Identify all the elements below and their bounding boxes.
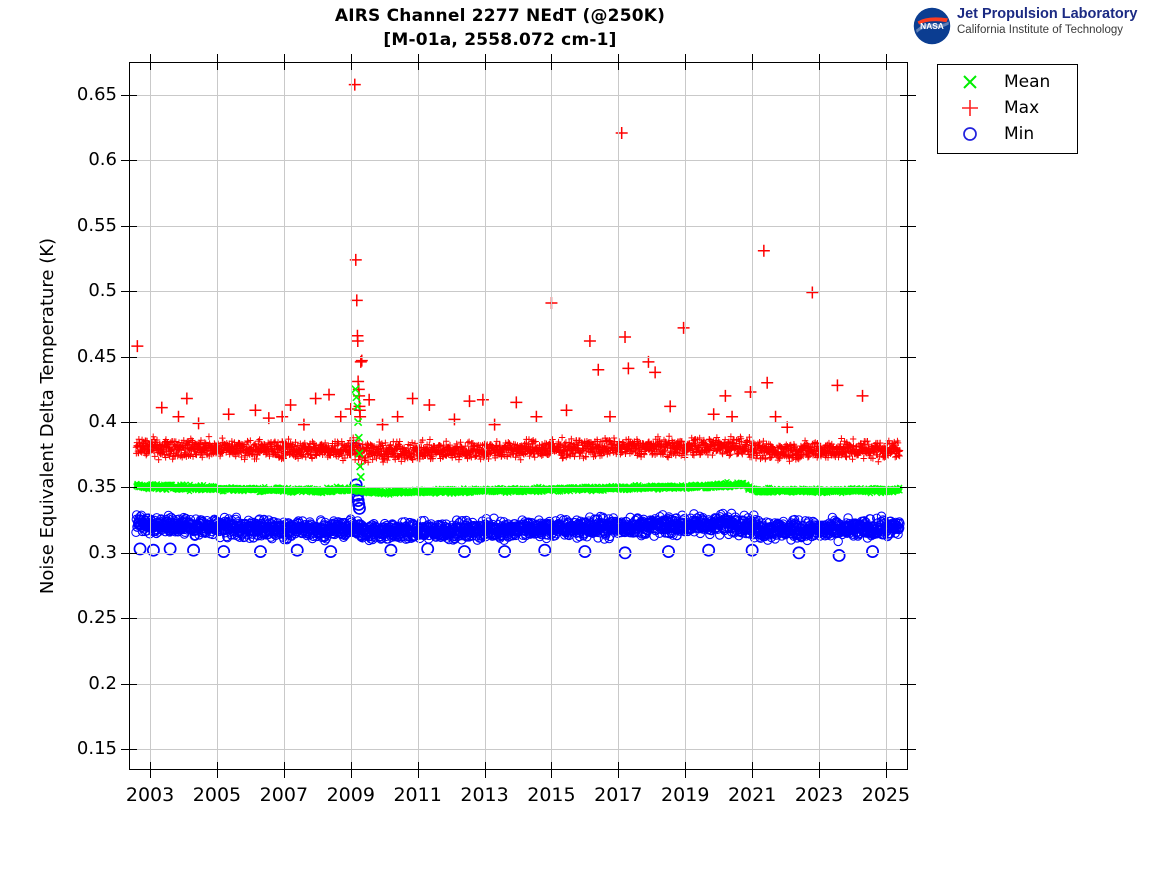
y-axis-tick-label: 0.6 <box>0 149 117 170</box>
x-axis-tick-top <box>150 63 151 70</box>
legend-label-mean: Mean <box>1004 69 1050 95</box>
x-axis-tick-label: 2009 <box>327 784 375 806</box>
y-axis-tick-right <box>900 684 907 685</box>
x-axis-tick-label: 2019 <box>661 784 709 806</box>
mean-marker-icon <box>956 69 984 95</box>
gridline-horizontal <box>130 487 907 488</box>
x-axis-tick <box>886 770 887 778</box>
y-axis-tick-right <box>908 618 916 619</box>
gridline-vertical <box>685 63 686 769</box>
gridline-vertical <box>284 63 285 769</box>
x-axis-tick <box>819 762 820 769</box>
x-axis-tick-top <box>485 54 486 62</box>
x-axis-tick <box>217 762 218 769</box>
y-axis-tick-right <box>908 553 916 554</box>
x-axis-tick <box>685 770 686 778</box>
y-axis-tick-right <box>900 160 907 161</box>
gridline-vertical <box>351 63 352 769</box>
gridline-vertical <box>551 63 552 769</box>
gridline-vertical <box>418 63 419 769</box>
x-axis-tick-top <box>551 63 552 70</box>
x-axis-tick-top <box>284 63 285 70</box>
logo-text: Jet Propulsion Laboratory California Ins… <box>957 6 1137 37</box>
y-axis-tick-label: 0.2 <box>0 673 117 694</box>
x-axis-tick <box>217 770 218 778</box>
y-axis-tick-right <box>900 422 907 423</box>
gridline-horizontal <box>130 422 907 423</box>
jpl-institution: California Institute of Technology <box>957 23 1137 37</box>
y-axis-tick <box>121 618 129 619</box>
x-axis-tick-top <box>685 63 686 70</box>
y-axis-tick <box>130 95 137 96</box>
gridline-horizontal <box>130 618 907 619</box>
x-axis-tick-top <box>618 63 619 70</box>
x-axis-tick-top <box>284 54 285 62</box>
y-axis-tick <box>121 749 129 750</box>
y-axis-tick-right <box>900 553 907 554</box>
gridline-horizontal <box>130 553 907 554</box>
x-axis-tick-top <box>685 54 686 62</box>
x-axis-tick <box>752 770 753 778</box>
legend-label-max: Max <box>1004 95 1039 121</box>
y-axis-tick-right <box>908 357 916 358</box>
nasa-seal-icon: NASA <box>913 7 951 45</box>
y-axis-tick-right <box>900 291 907 292</box>
gridline-horizontal <box>130 291 907 292</box>
svg-text:NASA: NASA <box>920 21 944 31</box>
y-axis-tick <box>121 357 129 358</box>
x-axis-tick <box>351 770 352 778</box>
y-axis-tick <box>130 226 137 227</box>
gridline-horizontal <box>130 160 907 161</box>
x-axis-tick-top <box>150 54 151 62</box>
x-axis-tick-top <box>217 63 218 70</box>
x-axis-tick-top <box>351 63 352 70</box>
y-axis-tick <box>130 291 137 292</box>
x-axis-tick <box>150 762 151 769</box>
y-axis-tick <box>121 160 129 161</box>
nasa-jpl-logo: NASA Jet Propulsion Laboratory Californi… <box>913 5 1163 47</box>
x-axis-tick <box>886 762 887 769</box>
y-axis-tick <box>130 553 137 554</box>
y-axis-tick-right <box>908 95 916 96</box>
title-line-2: [M-01a, 2558.072 cm-1] <box>170 28 830 52</box>
x-axis-tick <box>618 770 619 778</box>
gridline-horizontal <box>130 749 907 750</box>
x-axis-tick-top <box>618 54 619 62</box>
y-axis-tick <box>130 357 137 358</box>
y-axis-tick-label: 0.65 <box>0 84 117 105</box>
x-axis-tick-label: 2003 <box>126 784 174 806</box>
legend-item-min[interactable]: Min <box>938 121 1077 147</box>
y-axis-tick-label: 0.55 <box>0 215 117 236</box>
x-axis-tick-top <box>351 54 352 62</box>
gridline-horizontal <box>130 357 907 358</box>
legend-label-min: Min <box>1004 121 1034 147</box>
y-axis-tick-right <box>900 749 907 750</box>
data-marks <box>130 63 906 768</box>
y-axis-tick-right <box>900 618 907 619</box>
y-axis-tick <box>121 553 129 554</box>
x-axis-tick-label: 2021 <box>728 784 776 806</box>
gridline-vertical <box>819 63 820 769</box>
title-line-1: AIRS Channel 2277 NEdT (@250K) <box>170 4 830 28</box>
x-axis-tick-top <box>752 54 753 62</box>
jpl-name: Jet Propulsion Laboratory <box>957 6 1137 23</box>
x-axis-tick <box>150 770 151 778</box>
legend-item-mean[interactable]: Mean <box>938 69 1077 95</box>
x-axis-tick <box>618 762 619 769</box>
plot-area <box>129 62 908 770</box>
y-axis-tick <box>121 684 129 685</box>
x-axis-tick-top <box>886 54 887 62</box>
y-axis-tick-label: 0.15 <box>0 738 117 759</box>
y-axis-tick <box>130 684 137 685</box>
x-axis-tick-top <box>551 54 552 62</box>
x-axis-tick <box>418 770 419 778</box>
gridline-vertical <box>217 63 218 769</box>
x-axis-tick <box>351 762 352 769</box>
y-axis-tick-right <box>900 226 907 227</box>
x-axis-tick-label: 2007 <box>260 784 308 806</box>
legend-item-max[interactable]: Max <box>938 95 1077 121</box>
y-axis-tick <box>130 749 137 750</box>
x-axis-tick-label: 2005 <box>193 784 241 806</box>
x-axis-tick <box>418 762 419 769</box>
x-axis-tick-label: 2011 <box>393 784 441 806</box>
x-axis-tick-top <box>886 63 887 70</box>
gridline-vertical <box>752 63 753 769</box>
y-axis-tick-right <box>908 226 916 227</box>
gridline-vertical <box>485 63 486 769</box>
x-axis-tick <box>485 762 486 769</box>
x-axis-tick-top <box>217 54 218 62</box>
gridline-vertical <box>150 63 151 769</box>
y-axis-tick <box>130 422 137 423</box>
y-axis-tick <box>130 487 137 488</box>
x-axis-tick <box>284 762 285 769</box>
x-axis-tick-label: 2017 <box>594 784 642 806</box>
y-axis-tick-right <box>900 357 907 358</box>
y-axis-tick-label: 0.45 <box>0 346 117 367</box>
gridline-vertical <box>886 63 887 769</box>
legend: Mean Max Min <box>937 64 1078 154</box>
y-axis-tick <box>121 95 129 96</box>
y-axis-tick-right <box>908 422 916 423</box>
x-axis-tick-top <box>819 54 820 62</box>
chart-page: AIRS Channel 2277 NEdT (@250K) [M-01a, 2… <box>0 0 1167 875</box>
plot-canvas <box>130 63 907 769</box>
y-axis-tick-right <box>900 95 907 96</box>
y-axis-tick-label: 0.4 <box>0 411 117 432</box>
y-axis-tick <box>130 618 137 619</box>
y-axis-tick <box>121 291 129 292</box>
x-axis-tick-top <box>819 63 820 70</box>
y-axis-tick-label: 0.3 <box>0 542 117 563</box>
gridline-horizontal <box>130 95 907 96</box>
gridline-horizontal <box>130 226 907 227</box>
x-axis-tick-label: 2025 <box>862 784 910 806</box>
x-axis-tick-top <box>418 54 419 62</box>
y-axis-tick-right <box>908 160 916 161</box>
x-axis-tick <box>819 770 820 778</box>
y-axis-tick <box>121 422 129 423</box>
y-axis-tick <box>130 160 137 161</box>
x-axis-tick <box>284 770 285 778</box>
y-axis-tick-label: 0.35 <box>0 476 117 497</box>
y-axis-tick-right <box>900 487 907 488</box>
min-marker-icon <box>956 121 984 147</box>
y-axis-tick <box>121 487 129 488</box>
x-axis-tick-top <box>752 63 753 70</box>
page-title: AIRS Channel 2277 NEdT (@250K) [M-01a, 2… <box>170 4 830 52</box>
x-axis-tick-label: 2023 <box>795 784 843 806</box>
x-axis-tick <box>485 770 486 778</box>
max-marker-icon <box>956 95 984 121</box>
y-axis-tick-right <box>908 487 916 488</box>
x-axis-tick <box>551 770 552 778</box>
x-axis-tick <box>752 762 753 769</box>
x-axis-tick-top <box>485 63 486 70</box>
x-axis-tick-label: 2015 <box>527 784 575 806</box>
x-axis-tick-label: 2013 <box>460 784 508 806</box>
y-axis-tick <box>121 226 129 227</box>
x-axis-tick <box>551 762 552 769</box>
gridline-vertical <box>618 63 619 769</box>
y-axis-tick-right <box>908 291 916 292</box>
x-axis-tick-top <box>418 63 419 70</box>
y-axis-tick-right <box>908 749 916 750</box>
x-axis-tick <box>685 762 686 769</box>
gridline-horizontal <box>130 684 907 685</box>
y-axis-tick-label: 0.25 <box>0 607 117 628</box>
y-axis-tick-label: 0.5 <box>0 280 117 301</box>
y-axis-tick-right <box>908 684 916 685</box>
